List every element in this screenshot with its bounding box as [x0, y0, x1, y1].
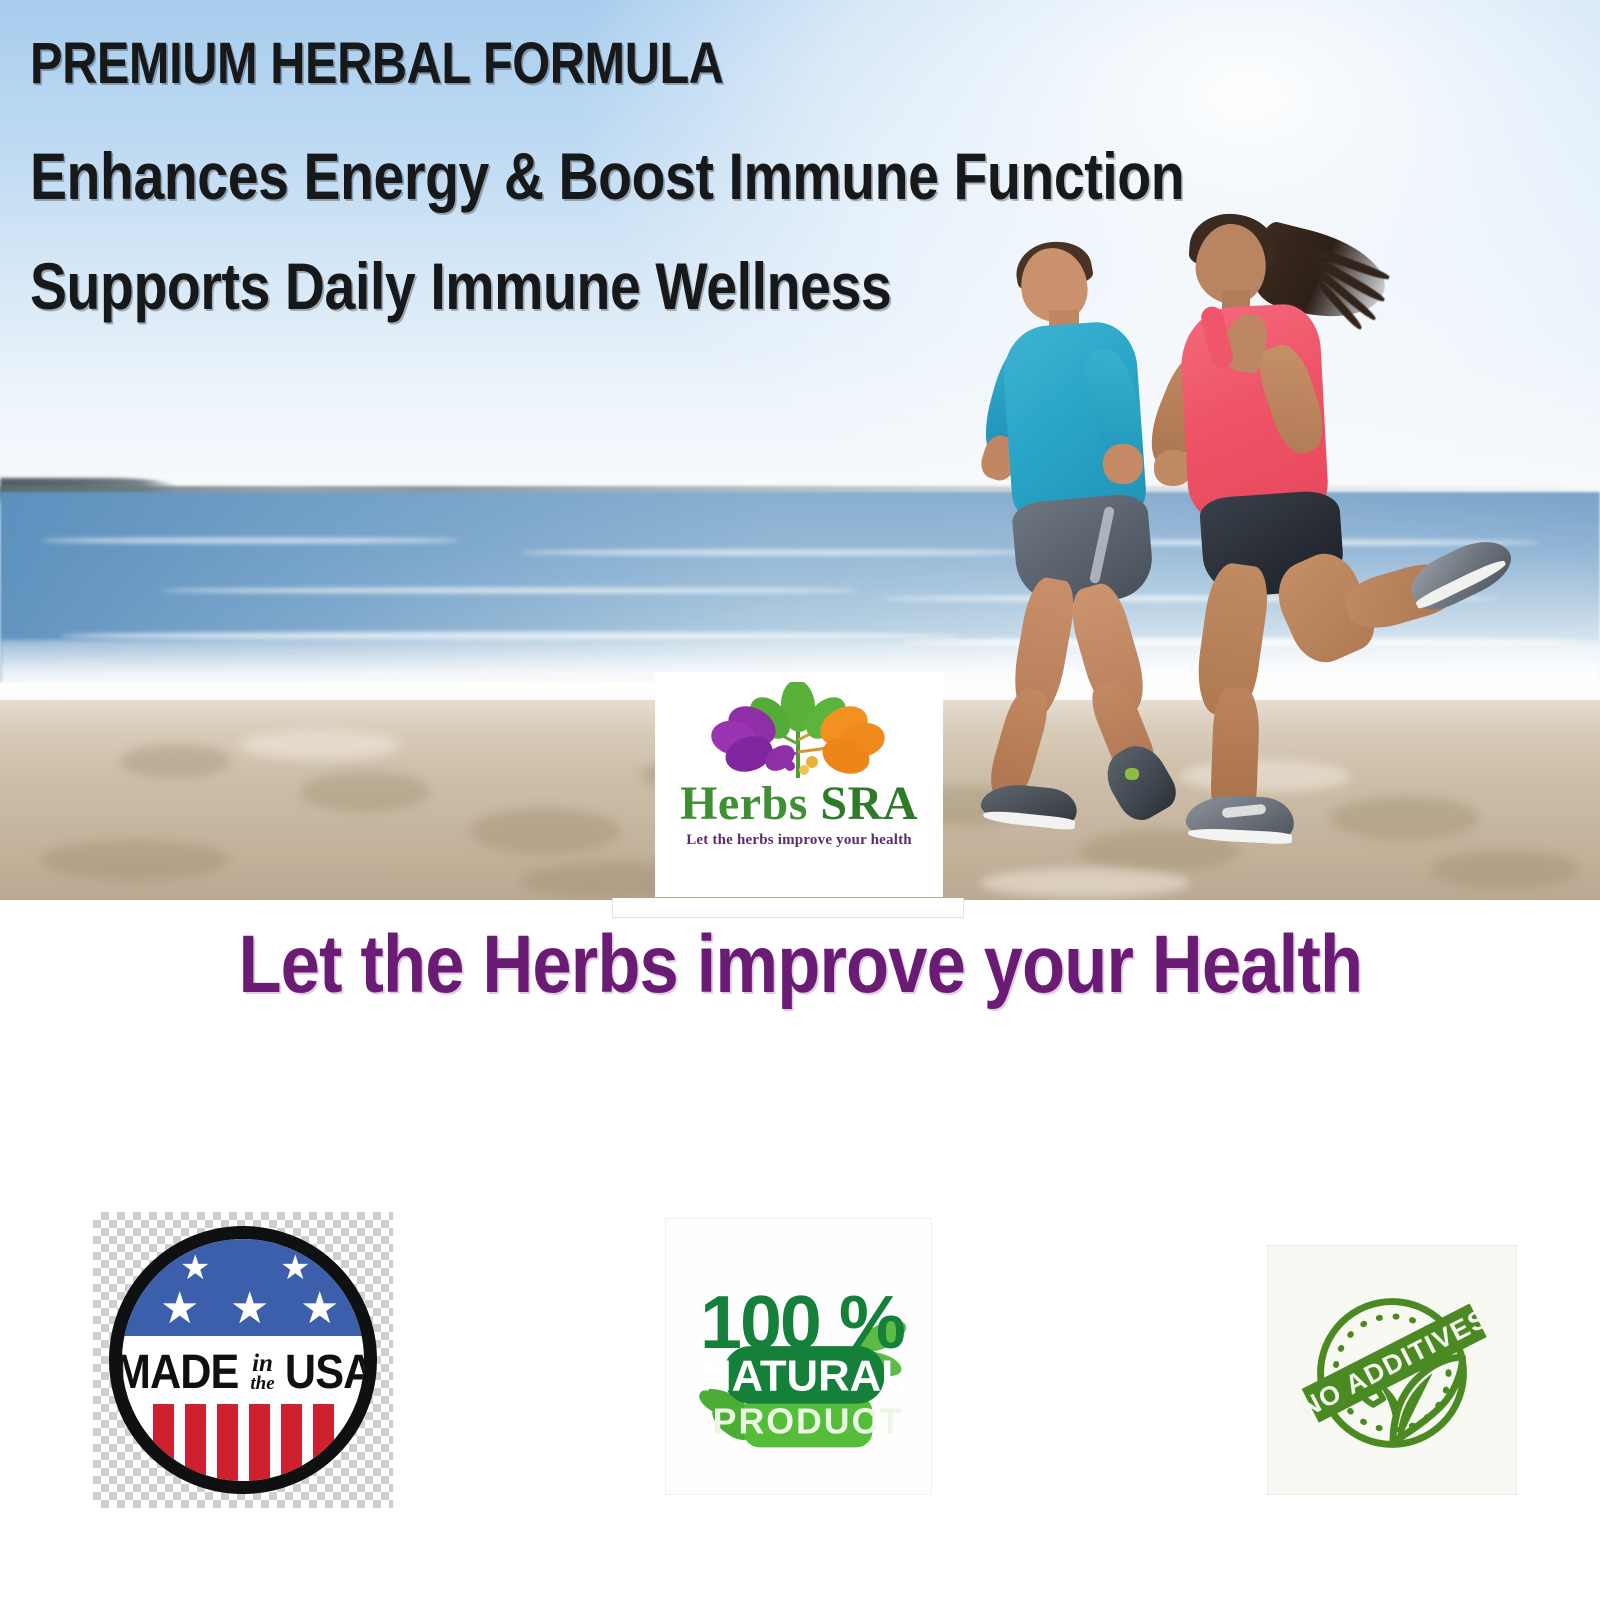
purple-slogan: Let the Herbs improve your Health	[0, 918, 1600, 1012]
natural-product-badge-icon: PRODUCT NATURAL 100 %	[666, 1219, 931, 1494]
usa-star: ★	[300, 1287, 339, 1331]
made-in-usa-wordmark: MADE in the USA	[122, 1336, 364, 1409]
brand-name: Herbs SRA	[680, 780, 918, 828]
headline-premium-formula: PREMIUM HERBAL FORMULA	[30, 30, 724, 97]
brand-name-secondary: SRA	[820, 777, 918, 830]
usa-word-the: the	[250, 1375, 274, 1392]
usa-star: ★	[180, 1251, 210, 1285]
usa-star: ★	[160, 1287, 199, 1331]
usa-word-usa: USA	[285, 1345, 374, 1400]
headline-enhances-energy: Enhances Energy & Boost Immune Function	[30, 138, 1184, 214]
usa-star: ★	[280, 1251, 310, 1285]
headline-supports-wellness: Supports Daily Immune Wellness	[30, 248, 891, 324]
trust-badge-row: ★ ★ ★ ★ ★ MADE in the USA	[0, 1180, 1600, 1540]
brand-logo-card: Herbs SRA Let the herbs improve your hea…	[655, 672, 943, 897]
usa-stripe	[153, 1404, 174, 1481]
hero-banner: PREMIUM HERBAL FORMULA Enhances Energy &…	[0, 0, 1600, 900]
badge-no-additives: NO ADDITIVES	[1267, 1245, 1517, 1495]
brand-tagline: Let the herbs improve your health	[686, 832, 912, 849]
man-front-hand	[1103, 444, 1143, 484]
badge-100-natural-product: PRODUCT NATURAL 100 %	[665, 1218, 932, 1495]
badge-made-in-usa: ★ ★ ★ ★ ★ MADE in the USA	[93, 1212, 393, 1508]
usa-star: ★	[230, 1287, 269, 1331]
usa-word-in: in	[252, 1352, 273, 1375]
natural-badge-percent-text: 100 %	[700, 1280, 905, 1364]
logo-underbox-frame	[612, 898, 964, 918]
usa-red-stripes	[122, 1404, 364, 1481]
natural-badge-product-text: PRODUCT	[713, 1401, 904, 1441]
runner-woman	[1150, 218, 1530, 838]
usa-stripe	[313, 1404, 334, 1481]
usa-stripe	[185, 1404, 206, 1481]
made-in-usa-seal-icon: ★ ★ ★ ★ ★ MADE in the USA	[109, 1226, 377, 1494]
usa-stripe	[249, 1404, 270, 1481]
usa-word-in-the: in the	[250, 1352, 274, 1392]
herb-leaf-cluster-icon	[694, 682, 904, 786]
man-shoe-accent	[1125, 768, 1139, 780]
purple-slogan-text: Let the Herbs improve your Health	[238, 918, 1362, 1012]
usa-stripe	[217, 1404, 238, 1481]
usa-stripe	[281, 1404, 302, 1481]
usa-word-made: MADE	[115, 1345, 239, 1400]
brand-name-primary: Herbs	[680, 777, 808, 830]
no-additives-stamp-icon: NO ADDITIVES	[1268, 1246, 1516, 1494]
